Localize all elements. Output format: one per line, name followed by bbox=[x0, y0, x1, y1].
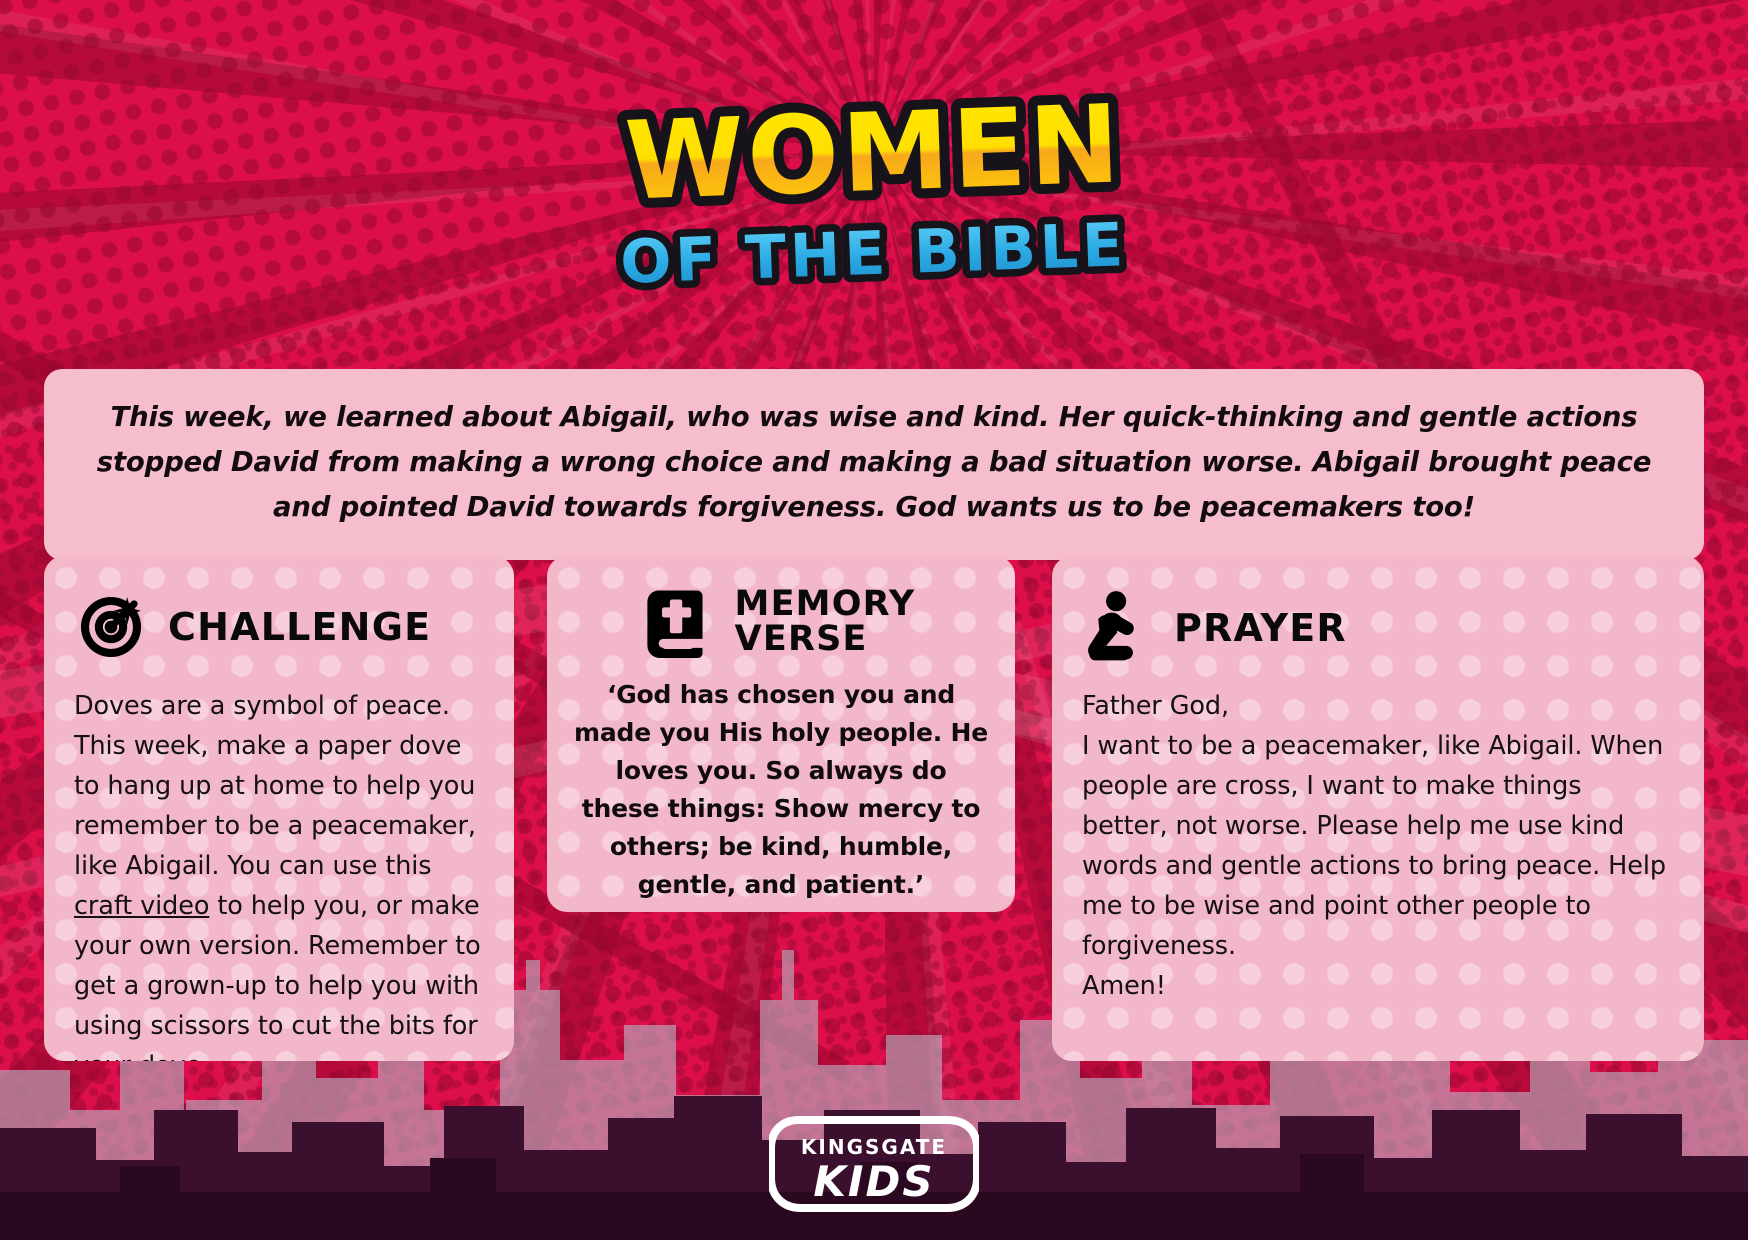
memory-verse-card: MEMORY VERSE ‘God has chosen you and mad… bbox=[547, 556, 1015, 912]
challenge-card-title: CHALLENGE bbox=[168, 608, 431, 647]
memory-verse-title-line1: MEMORY bbox=[735, 584, 916, 624]
memory-verse-card-title: MEMORY VERSE bbox=[735, 587, 916, 657]
target-arrow-icon bbox=[74, 590, 148, 664]
intro-text: This week, we learned about Abigail, who… bbox=[84, 395, 1664, 530]
craft-video-link[interactable]: craft video bbox=[74, 891, 209, 921]
hero-title-block: WOMEN WOMEN OF THE BIBLE OF THE BIBLE bbox=[0, 78, 1748, 328]
svg-text:OF THE BIBLE: OF THE BIBLE bbox=[619, 210, 1128, 298]
kingsgate-wordmark: KINGSGATE bbox=[801, 1135, 947, 1159]
kneeling-praying-person-icon bbox=[1082, 590, 1148, 666]
challenge-text-part1: Doves are a symbol of peace. This week, … bbox=[74, 691, 476, 881]
kingsgate-kids-logo: KINGSGATE KIDS bbox=[769, 1104, 979, 1220]
kingsgate-kids-logo-mark: KINGSGATE KIDS bbox=[769, 1104, 979, 1216]
memory-verse-title-line2: VERSE bbox=[735, 619, 868, 659]
svg-text:WOMEN: WOMEN bbox=[623, 82, 1125, 224]
challenge-card: CHALLENGE Doves are a symbol of peace. T… bbox=[44, 556, 514, 1061]
prayer-card-header: PRAYER bbox=[1082, 590, 1674, 666]
kids-wordmark: KIDS bbox=[813, 1157, 934, 1206]
intro-panel: This week, we learned about Abigail, who… bbox=[44, 369, 1704, 560]
prayer-card-title: PRAYER bbox=[1174, 609, 1347, 648]
prayer-card: PRAYER Father God, I want to be a peacem… bbox=[1052, 556, 1704, 1061]
prayer-card-body: Father God, I want to be a peacemaker, l… bbox=[1082, 686, 1674, 1006]
challenge-card-body: Doves are a symbol of peace. This week, … bbox=[74, 686, 484, 1061]
bible-cross-icon bbox=[647, 586, 713, 658]
memory-verse-card-header: MEMORY VERSE bbox=[573, 586, 989, 658]
challenge-card-header: CHALLENGE bbox=[74, 590, 484, 664]
women-of-the-bible-logo: WOMEN WOMEN OF THE BIBLE OF THE BIBLE bbox=[564, 78, 1184, 328]
memory-verse-text: ‘God has chosen you and made you His hol… bbox=[573, 676, 989, 904]
